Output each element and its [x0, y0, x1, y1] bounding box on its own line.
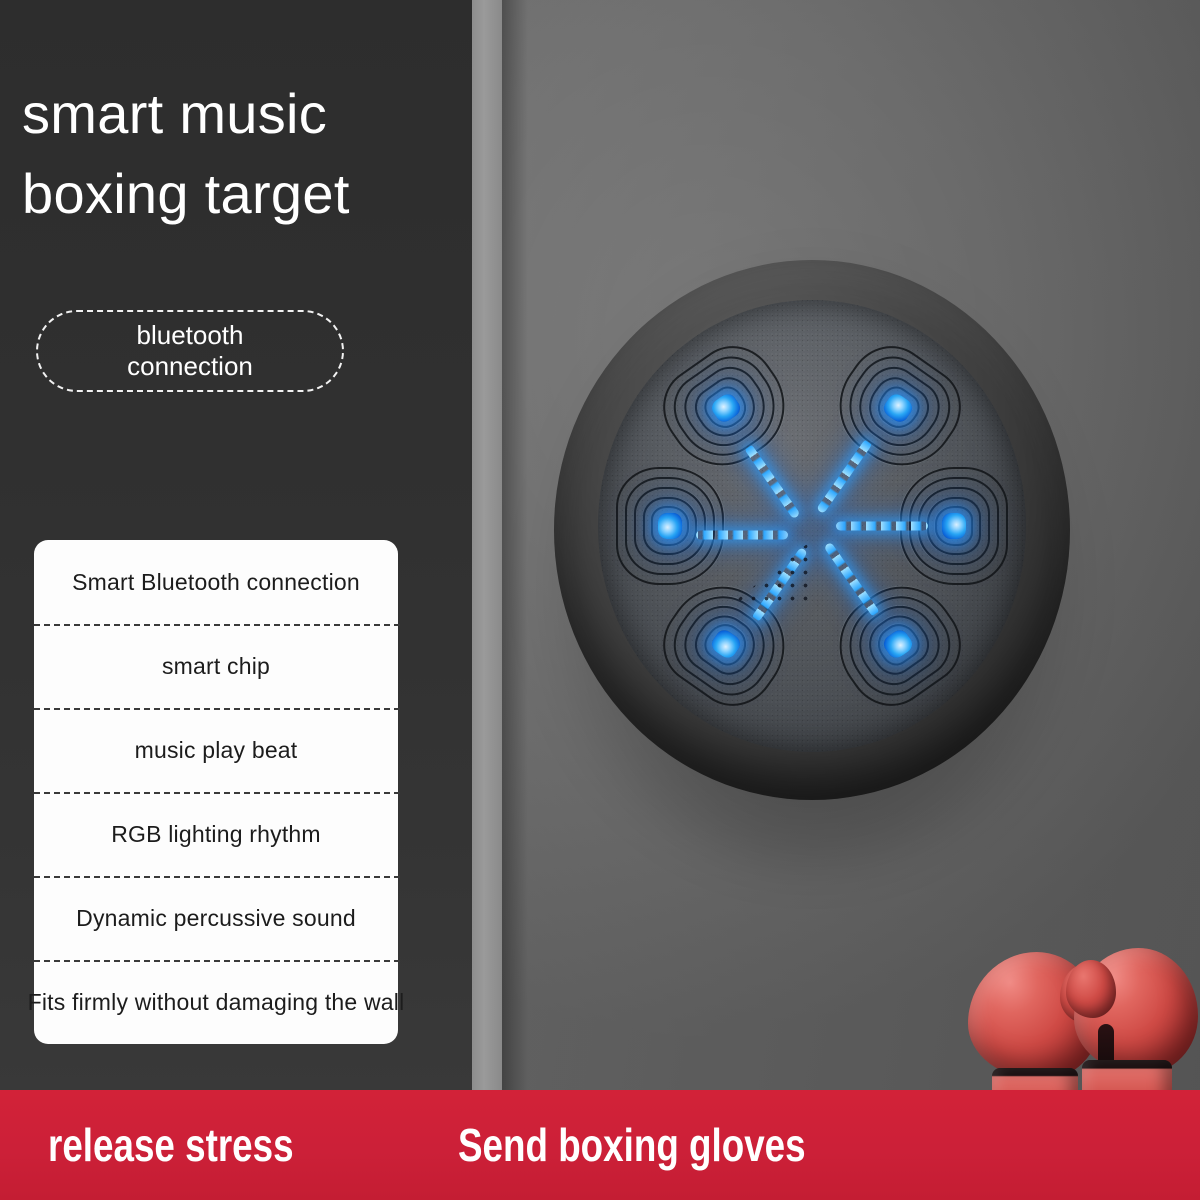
banner-left-text: release stress	[48, 1118, 294, 1172]
target-pad-led	[658, 513, 682, 539]
badge-line-1: bluetooth	[137, 320, 244, 351]
feature-list-panel: Smart Bluetooth connection smart chip mu…	[34, 540, 398, 1044]
feature-label: music play beat	[135, 737, 298, 764]
target-pad-led	[942, 513, 966, 539]
bottom-promo-banner: release stress Send boxing gloves	[0, 1090, 1200, 1200]
product-advertisement: smart music boxing target bluetooth conn…	[0, 0, 1200, 1200]
banner-right-text: Send boxing gloves	[458, 1118, 806, 1172]
feature-row: Smart Bluetooth connection	[34, 540, 398, 624]
glove-thumb	[1066, 960, 1116, 1018]
feature-label: Smart Bluetooth connection	[72, 569, 360, 596]
feature-label: Fits firmly without damaging the wall	[28, 989, 405, 1016]
feature-row: music play beat	[34, 708, 398, 792]
feature-row: Dynamic percussive sound	[34, 876, 398, 960]
feature-row: smart chip	[34, 624, 398, 708]
bluetooth-connection-badge: bluetooth connection	[36, 310, 344, 392]
feature-row: RGB lighting rhythm	[34, 792, 398, 876]
led-spoke	[696, 531, 788, 540]
feature-label: RGB lighting rhythm	[111, 821, 321, 848]
device-inner-face	[598, 300, 1026, 752]
boxing-target-device	[492, 168, 1132, 910]
feature-label: Dynamic percussive sound	[76, 905, 356, 932]
badge-line-2: connection	[127, 351, 253, 382]
feature-label: smart chip	[162, 653, 270, 680]
page-title: smart music boxing target	[22, 78, 542, 229]
headline-line-2: boxing target	[22, 158, 542, 230]
headline-line-1: smart music	[22, 78, 542, 150]
feature-row: Fits firmly without damaging the wall	[34, 960, 398, 1044]
led-spoke	[836, 522, 928, 531]
